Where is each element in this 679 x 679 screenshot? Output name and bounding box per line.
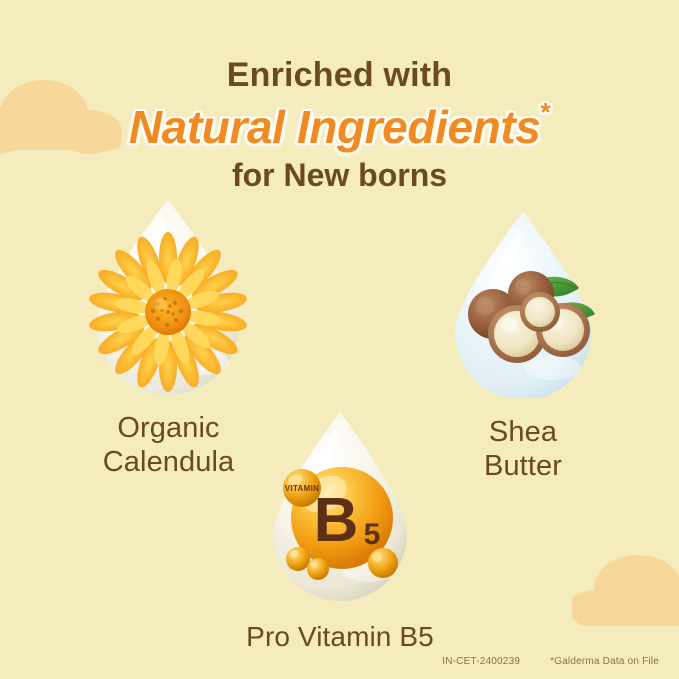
- headline-line-natural-ingredients: Natural Ingredients*: [0, 97, 679, 154]
- droplet-b5: B 5 VITAMIN: [215, 408, 465, 608]
- headline-asterisk: *: [540, 97, 550, 127]
- b5-vitamin-bubble-label: VITAMIN: [285, 484, 319, 493]
- ingredient-b5: B 5 VITAMIN Pro Vitamin B5: [215, 408, 465, 653]
- footer-disclaimer: *Galderma Data on File: [550, 656, 659, 667]
- droplet-calendula: [36, 196, 301, 401]
- headline-block: Enriched with Natural Ingredients* for N…: [0, 56, 679, 194]
- ingredient-label-b5: Pro Vitamin B5: [215, 620, 465, 653]
- cloud-decoration-bottom-right: [572, 548, 679, 648]
- headline-line-enriched: Enriched with: [0, 56, 679, 94]
- b5-sphere-subscript: 5: [364, 518, 381, 551]
- infographic-canvas: Enriched with Natural Ingredients* for N…: [0, 0, 679, 679]
- droplet-shea: [398, 208, 648, 403]
- headline-natural-text: Natural Ingredients: [129, 101, 541, 153]
- headline-line-newborns: for New borns: [0, 158, 679, 194]
- footer: IN-CET-2400239 *Galderma Data on File: [442, 656, 659, 667]
- b5-sphere-letter: B: [314, 486, 359, 555]
- ingredient-label-b5-line1: Pro Vitamin B5: [215, 620, 465, 653]
- footer-code: IN-CET-2400239: [442, 656, 520, 667]
